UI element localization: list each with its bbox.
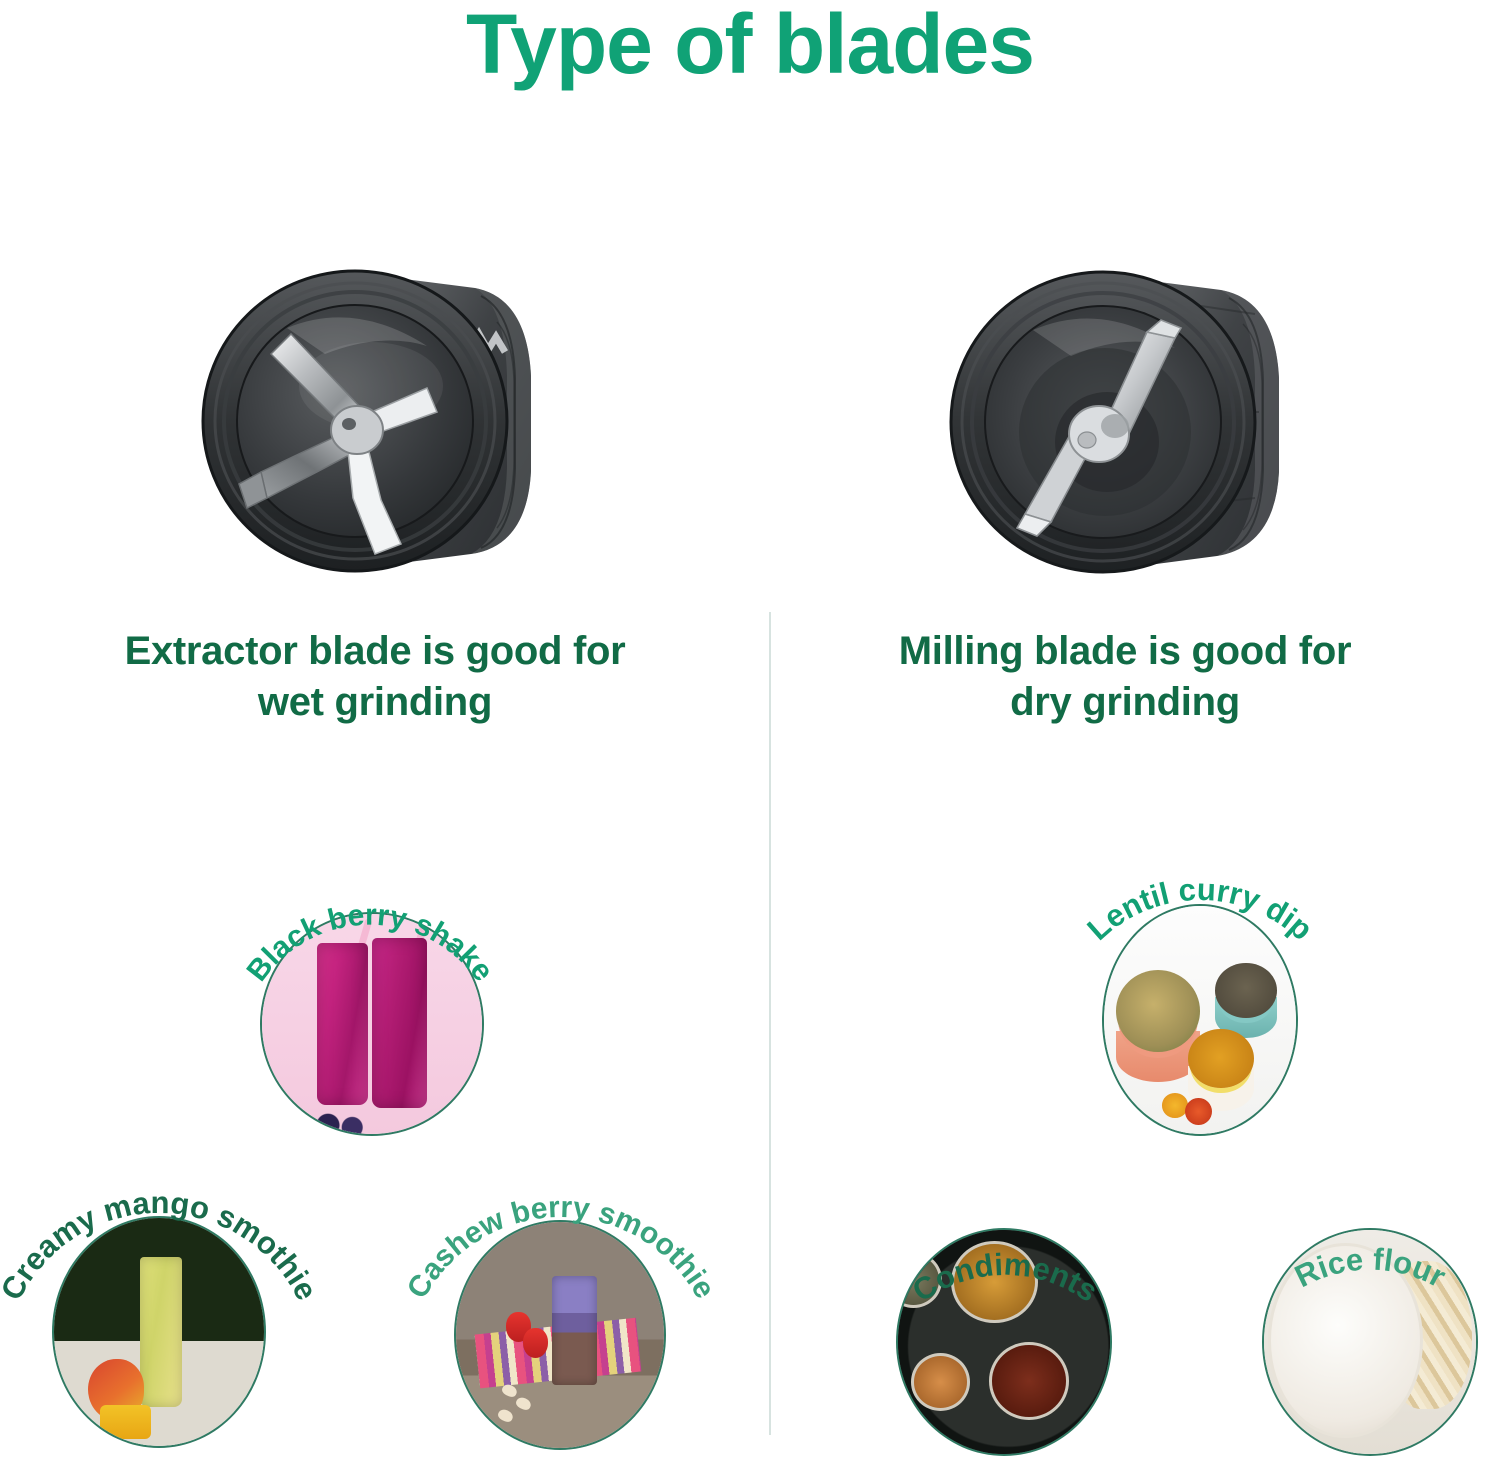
extractor-blade-image [0,236,750,596]
extractor-caption: Extractor blade is good for wet grinding [0,626,750,728]
infographic-root: Type of blades [0,0,1500,1444]
black-berry-shake-photo [260,912,484,1136]
extractor-caption-line2: wet grinding [258,680,492,724]
cashew-berry-smoothie-photo [454,1220,666,1450]
column-extractor: Extractor blade is good for wet grinding… [0,0,750,1444]
milling-blade-image [750,236,1500,596]
food-card-condiments[interactable]: Condiments [860,1166,1150,1456]
lentil-curry-dip-photo [1102,904,1298,1136]
rice-flour-photo [1262,1228,1478,1456]
condiments-photo [896,1228,1112,1456]
milling-caption-line2: dry grinding [1010,680,1240,724]
milling-caption-line1: Milling blade is good for [899,629,1351,673]
column-milling: Milling blade is good for dry grinding L… [750,0,1500,1444]
food-card-black-berry-shake[interactable]: Black berry shake [236,846,504,1136]
milling-caption: Milling blade is good for dry grinding [750,626,1500,728]
food-card-creamy-mango-smothie[interactable]: Creamy mango smothie [0,1158,324,1458]
food-card-lentil-curry-dip[interactable]: Lentil curry dip [1050,846,1350,1146]
food-card-rice-flour[interactable]: Rice flour [1230,1166,1500,1456]
food-card-cashew-berry-smoothie[interactable]: Cashew berry smoothie [396,1164,726,1464]
creamy-mango-smothie-photo [52,1216,266,1448]
extractor-caption-line1: Extractor blade is good for [125,629,626,673]
